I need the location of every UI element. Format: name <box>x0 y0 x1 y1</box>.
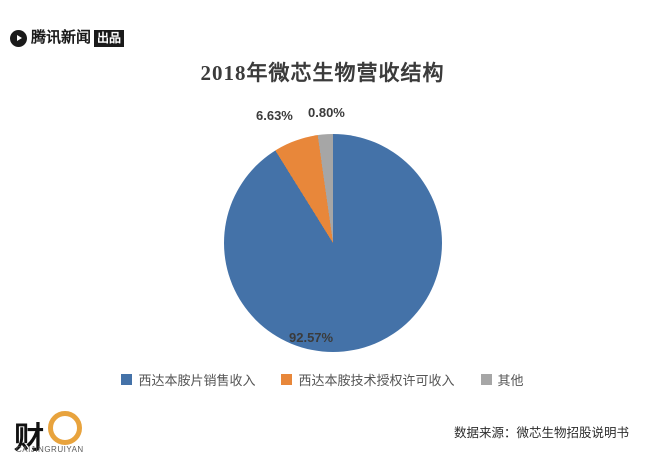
legend-item-0: 西达本胺片销售收入 <box>121 370 255 389</box>
legend-label-0: 西达本胺片销售收入 <box>138 370 255 389</box>
legend-item-1: 西达本胺技术授权许可收入 <box>281 370 454 389</box>
brand-name: 腾讯新闻 <box>31 29 91 47</box>
data-label-2: 0.80% <box>308 105 345 120</box>
legend-swatch-0 <box>121 374 132 385</box>
chart-legend: 西达本胺片销售收入 西达本胺技术授权许可收入 其他 <box>0 370 645 389</box>
chart-canvas: 腾讯新闻 出品 2018年微芯生物营收结构 6.63% 0.80% 92.57%… <box>0 0 645 465</box>
data-label-1: 6.63% <box>256 108 293 123</box>
chart-title: 2018年微芯生物营收结构 <box>0 57 645 87</box>
watermark-subtitle: CAIJINGRUIYAN <box>16 445 84 454</box>
pie-chart <box>224 134 442 352</box>
legend-item-2: 其他 <box>481 370 524 389</box>
play-circle-icon <box>10 30 27 47</box>
data-label-0: 92.57% <box>289 330 333 345</box>
pie-slices <box>224 134 442 352</box>
legend-label-2: 其他 <box>498 370 524 389</box>
legend-swatch-1 <box>281 374 292 385</box>
legend-label-1: 西达本胺技术授权许可收入 <box>298 370 454 389</box>
brand-tag: 出品 <box>94 30 124 47</box>
legend-swatch-2 <box>481 374 492 385</box>
source-note: 数据来源：微芯生物招股说明书 <box>454 422 629 441</box>
ring-icon <box>48 411 82 445</box>
brand-badge: 腾讯新闻 出品 <box>10 27 124 49</box>
watermark-logo: 财 CAIJINGRUIYAN <box>14 411 106 451</box>
